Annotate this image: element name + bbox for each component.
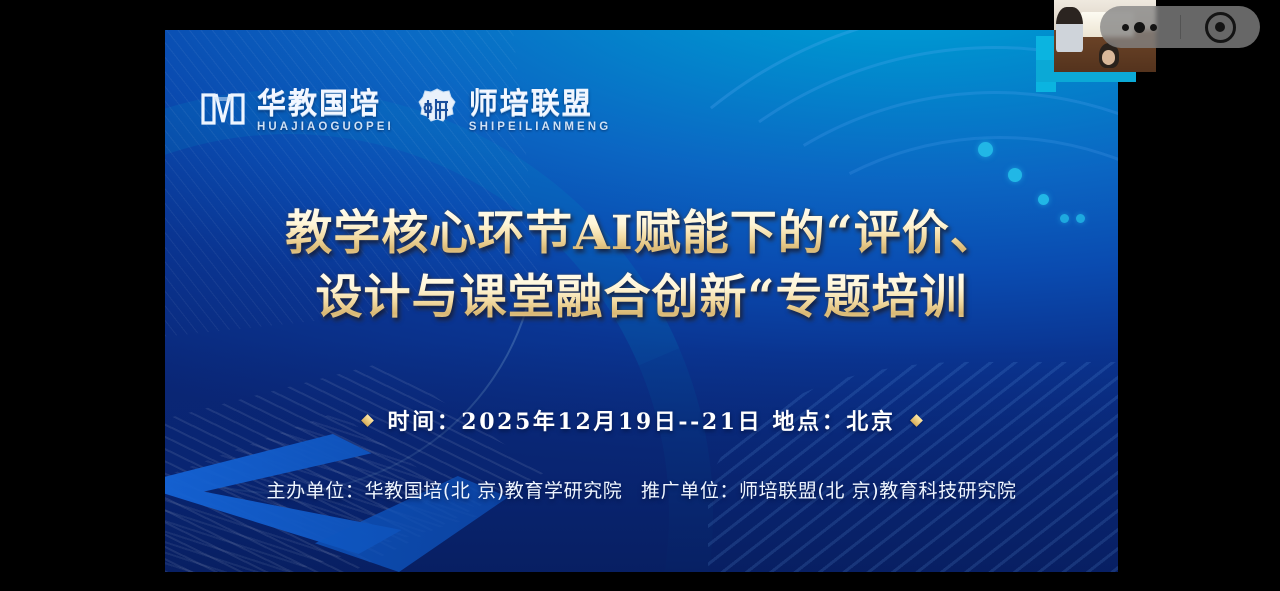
logo-en-label: HUAJIAOGUOPEI bbox=[257, 122, 394, 134]
logo-en-label: SHIPEILIANMENG bbox=[469, 122, 611, 134]
screen-share-stage: 华教国培 HUAJIAOGUOPEI bbox=[0, 0, 1280, 591]
slide-title-line-2: 设计与课堂融合创新“专题培训 bbox=[165, 266, 1118, 330]
logo-huajiaoguopei: 华教国培 HUAJIAOGUOPEI bbox=[200, 89, 394, 134]
more-options-button[interactable] bbox=[1100, 6, 1180, 48]
floating-control-bar[interactable] bbox=[1100, 6, 1260, 48]
logo-shipeilianmeng: 师培联盟 SHIPEILIANMENG bbox=[416, 88, 611, 135]
diamond-icon bbox=[910, 414, 923, 427]
event-date-location: 时间：2025年12月19日--21日 地点：北京 bbox=[388, 404, 896, 436]
diamond-icon bbox=[361, 414, 374, 427]
organizer-host: 主办单位：华教国培(北 京)教育学研究院 bbox=[267, 480, 623, 502]
logo-huajiaoguopei-text: 华教国培 HUAJIAOGUOPEI bbox=[257, 89, 394, 134]
slide-event-meta: 时间：2025年12月19日--21日 地点：北京 bbox=[165, 404, 1118, 436]
presentation-slide[interactable]: 华教国培 HUAJIAOGUOPEI bbox=[165, 30, 1118, 572]
slide-title: 教学核心环节AI赋能下的“评价、 设计与课堂融合创新“专题培训 bbox=[165, 202, 1118, 330]
seal-emblem-logo-icon bbox=[416, 88, 458, 135]
record-button[interactable] bbox=[1181, 6, 1261, 48]
record-icon bbox=[1205, 12, 1236, 43]
slide-logos: 华教国培 HUAJIAOGUOPEI bbox=[200, 88, 611, 135]
three-dots-icon bbox=[1122, 22, 1157, 33]
logo-cn-label: 师培联盟 bbox=[469, 89, 611, 118]
open-book-logo-icon bbox=[200, 89, 246, 134]
organizer-promoter: 推广单位：师培联盟(北 京)教育科技研究院 bbox=[641, 480, 1016, 502]
slide-organizers: 主办单位：华教国培(北 京)教育学研究院 推广单位：师培联盟(北 京)教育科技研… bbox=[165, 476, 1118, 503]
slide-title-line-1: 教学核心环节AI赋能下的“评价、 bbox=[165, 202, 1118, 266]
logo-shipeilianmeng-text: 师培联盟 SHIPEILIANMENG bbox=[469, 89, 611, 134]
logo-cn-label: 华教国培 bbox=[257, 89, 394, 118]
